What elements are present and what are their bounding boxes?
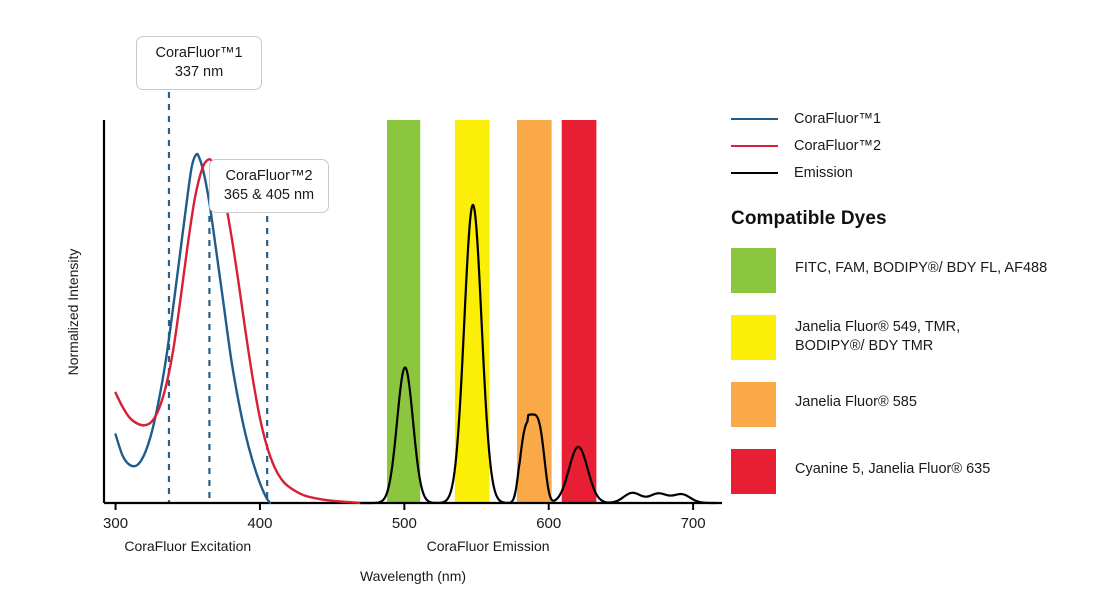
legend-panel: CoraFluor™1CoraFluor™2Emission Compatibl…	[731, 105, 1103, 516]
x-axis-title: Wavelength (nm)	[360, 568, 466, 584]
dye-label-1: Janelia Fluor® 549, TMR,BODIPY®/ BDY TMR	[795, 315, 960, 357]
x-tick-label-300: 300	[103, 515, 128, 532]
compatible-dyes-title: Compatible Dyes	[731, 208, 1103, 230]
legend-row-0: CoraFluor™1	[731, 105, 1103, 132]
dye-label-3: Cyanine 5, Janelia Fluor® 635	[795, 449, 990, 479]
dye-row-3: Cyanine 5, Janelia Fluor® 635	[731, 449, 1103, 494]
dye-label-0: FITC, FAM, BODIPY®/ BDY FL, AF488	[795, 248, 1047, 278]
callout-corafluor1-line2: 337 nm	[149, 63, 249, 82]
legend-row-1: CoraFluor™2	[731, 132, 1103, 159]
dye-row-1: Janelia Fluor® 549, TMR,BODIPY®/ BDY TMR	[731, 315, 1103, 360]
legend-row-2: Emission	[731, 159, 1103, 186]
spectra-chart: 300400500600700 Normalized Intensity Wav…	[0, 0, 740, 612]
yellow-band	[455, 120, 490, 503]
callout-corafluor2-line2: 365 & 405 nm	[222, 186, 316, 205]
legend-line-label-1: CoraFluor™2	[794, 138, 881, 154]
dye-swatch-2	[731, 382, 776, 427]
dye-band-group	[387, 120, 596, 503]
y-axis-title: Normalized Intensity	[65, 249, 81, 376]
x-tick-label-600: 600	[536, 515, 561, 532]
compatible-dyes-list: FITC, FAM, BODIPY®/ BDY FL, AF488Janelia…	[731, 248, 1103, 494]
excitation-marker-lines	[169, 92, 267, 503]
dye-swatch-3	[731, 449, 776, 494]
region-label-1: CoraFluor Emission	[427, 538, 550, 554]
x-axis-ticks: 300400500600700	[103, 503, 706, 532]
callout-corafluor1-line1: CoraFluor™1	[149, 44, 249, 63]
series-legend: CoraFluor™1CoraFluor™2Emission	[731, 105, 1103, 186]
figure-root: 300400500600700 Normalized Intensity Wav…	[0, 0, 1110, 612]
legend-line-swatch-0	[731, 118, 778, 120]
x-tick-label-400: 400	[247, 515, 272, 532]
dye-swatch-0	[731, 248, 776, 293]
callout-corafluor2-line1: CoraFluor™2	[222, 167, 316, 186]
legend-line-swatch-2	[731, 172, 778, 174]
callout-corafluor1: CoraFluor™1 337 nm	[136, 36, 262, 90]
legend-line-label-2: Emission	[794, 165, 853, 181]
x-tick-label-700: 700	[681, 515, 706, 532]
plot-area: 300400500600700 Normalized Intensity Wav…	[0, 0, 740, 612]
region-labels: CoraFluor ExcitationCoraFluor Emission	[124, 538, 549, 554]
legend-line-swatch-1	[731, 145, 778, 147]
x-tick-label-500: 500	[392, 515, 417, 532]
red-band	[562, 120, 597, 503]
dye-row-0: FITC, FAM, BODIPY®/ BDY FL, AF488	[731, 248, 1103, 293]
region-label-0: CoraFluor Excitation	[124, 538, 251, 554]
dye-swatch-1	[731, 315, 776, 360]
dye-row-2: Janelia Fluor® 585	[731, 382, 1103, 427]
callout-corafluor2: CoraFluor™2 365 & 405 nm	[209, 159, 329, 213]
legend-line-label-0: CoraFluor™1	[794, 111, 881, 127]
dye-label-2: Janelia Fluor® 585	[795, 382, 917, 412]
